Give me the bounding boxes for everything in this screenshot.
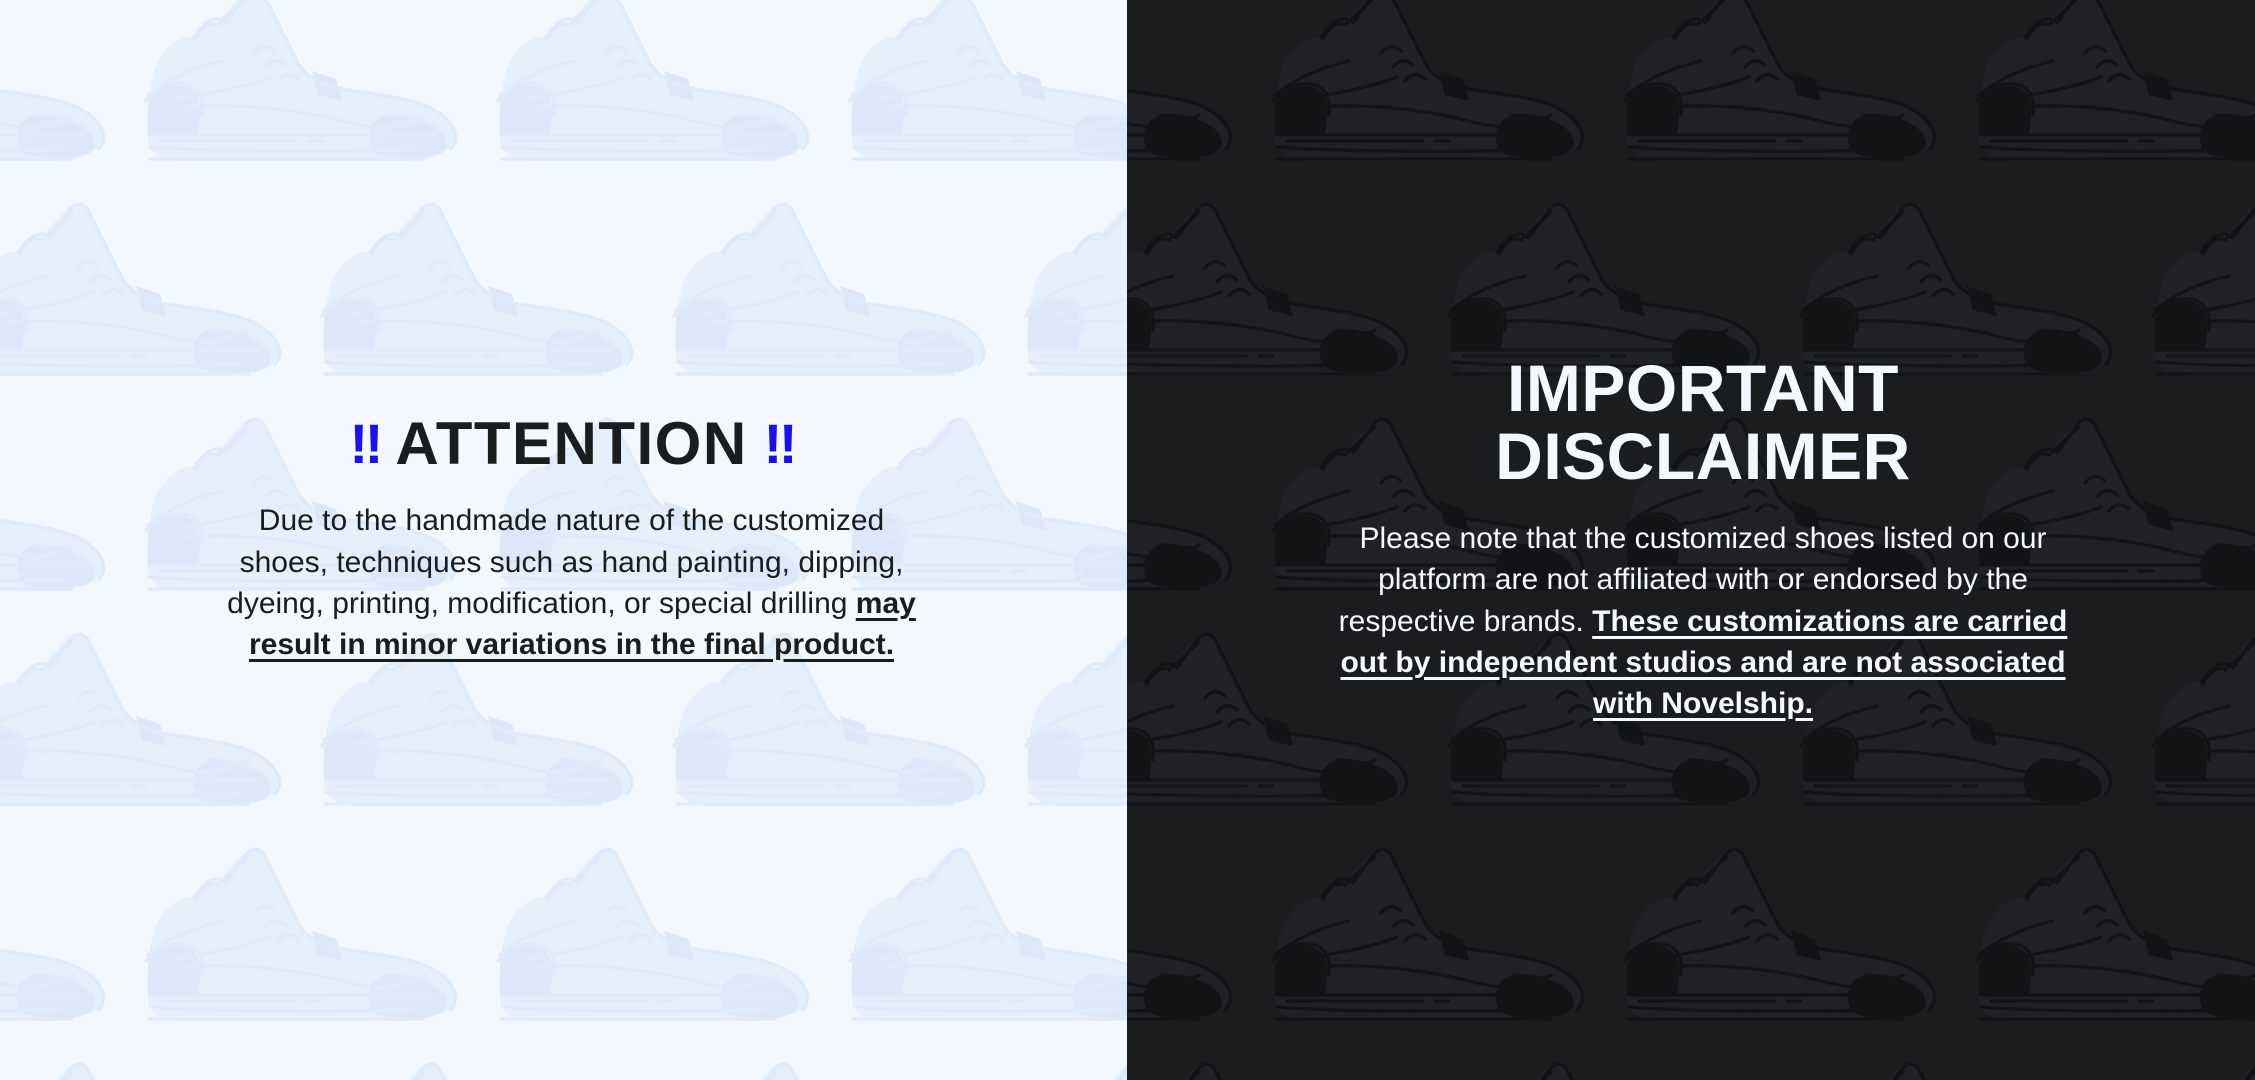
sneaker-icon: [664, 1050, 1016, 1080]
sneaker-pattern-row: [1127, 0, 2255, 185]
sneaker-pattern-row: [0, 1050, 1127, 1080]
sneaker-icon: [2143, 620, 2255, 830]
attention-panel: ‼ATTENTION‼ Due to the handmade nature o…: [0, 0, 1127, 1080]
sneaker-pattern-row: [1127, 835, 2255, 1045]
sneaker-icon: [312, 190, 664, 400]
sneaker-icon: [1263, 0, 1615, 185]
sneaker-icon: [0, 0, 136, 185]
sneaker-icon: [136, 835, 488, 1045]
double-exclamation-icon-right: ‼: [764, 412, 794, 475]
disclaimer-body: Please note that the customized shoes li…: [1313, 518, 2093, 725]
sneaker-icon: [1127, 1050, 1439, 1080]
sneaker-icon: [1439, 1050, 1791, 1080]
disclaimer-heading-line-2: DISCLAIMER: [1303, 423, 2103, 490]
sneaker-icon: [1791, 1050, 2143, 1080]
attention-content: ‼ATTENTION‼ Due to the handmade nature o…: [192, 414, 952, 666]
sneaker-icon: [312, 1050, 664, 1080]
disclaimer-heading: IMPORTANT DISCLAIMER: [1303, 355, 2103, 490]
sneaker-icon: [1127, 835, 1263, 1045]
sneaker-icon: [488, 835, 840, 1045]
sneaker-icon: [1127, 0, 1263, 185]
attention-body-plain: Due to the handmade nature of the custom…: [227, 504, 903, 620]
double-exclamation-icon-left: ‼: [349, 412, 379, 475]
sneaker-icon: [664, 190, 1016, 400]
sneaker-icon: [1615, 835, 1967, 1045]
sneaker-icon: [488, 0, 840, 185]
sneaker-icon: [1615, 0, 1967, 185]
sneaker-icon: [1016, 620, 1127, 830]
sneaker-icon: [1016, 1050, 1127, 1080]
sneaker-icon: [840, 835, 1127, 1045]
sneaker-icon: [1016, 190, 1127, 400]
sneaker-icon: [1263, 835, 1615, 1045]
sneaker-pattern-row: [0, 0, 1127, 185]
sneaker-icon: [0, 1050, 312, 1080]
disclaimer-content: IMPORTANT DISCLAIMER Please note that th…: [1303, 355, 2103, 725]
sneaker-icon: [2143, 1050, 2255, 1080]
sneaker-icon: [1127, 405, 1263, 615]
sneaker-pattern-row: [1127, 1050, 2255, 1080]
sneaker-pattern-row: [0, 190, 1127, 400]
sneaker-icon: [2143, 190, 2255, 400]
sneaker-pattern-row: [0, 835, 1127, 1045]
sneaker-icon: [1967, 835, 2255, 1045]
sneaker-icon: [840, 0, 1127, 185]
attention-heading-label: ATTENTION: [395, 410, 747, 477]
sneaker-icon: [0, 405, 136, 615]
attention-heading: ‼ATTENTION‼: [192, 414, 952, 474]
sneaker-icon: [0, 190, 312, 400]
sneaker-icon: [136, 0, 488, 185]
attention-body: Due to the handmade nature of the custom…: [212, 500, 932, 666]
disclaimer-banner: ‼ATTENTION‼ Due to the handmade nature o…: [0, 0, 2255, 1080]
sneaker-icon: [0, 835, 136, 1045]
disclaimer-heading-line-1: IMPORTANT: [1303, 355, 2103, 422]
sneaker-icon: [1967, 0, 2255, 185]
disclaimer-panel: IMPORTANT DISCLAIMER Please note that th…: [1127, 0, 2255, 1080]
